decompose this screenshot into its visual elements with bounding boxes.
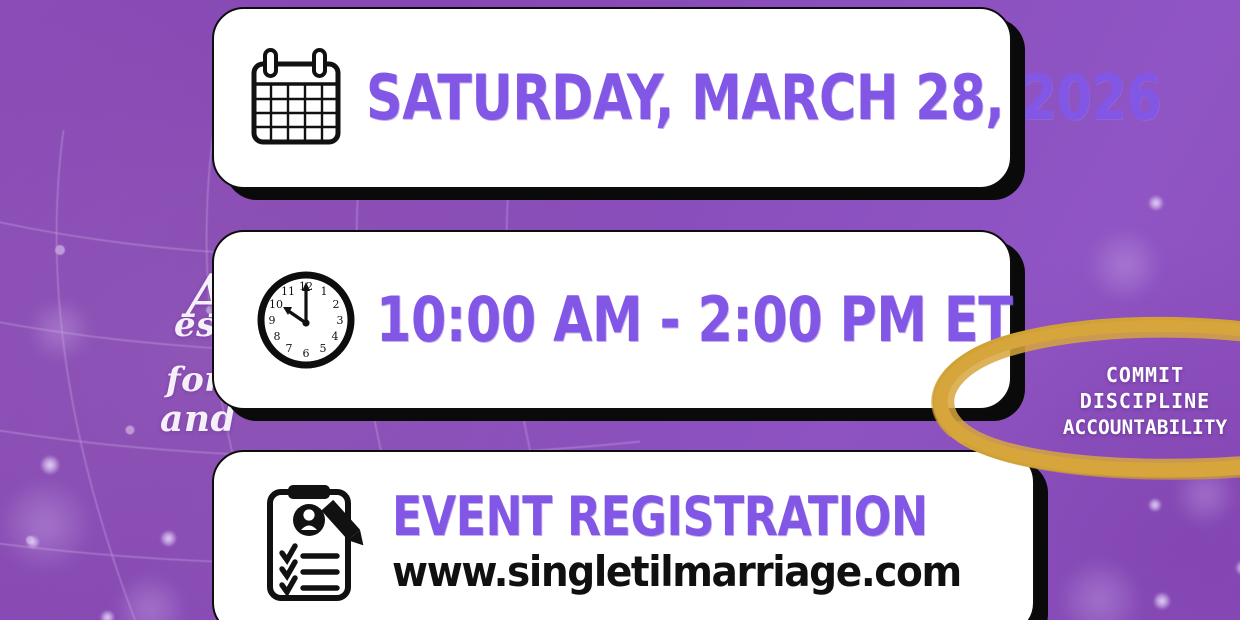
registration-clipboard-icon [262, 482, 374, 604]
event-date-text: SATURDAY, MARCH 28, 2026 [366, 67, 1161, 129]
clock-icon-wrap: 12 1 2 3 4 5 6 7 8 9 10 11 [246, 268, 366, 372]
svg-text:2: 2 [333, 298, 340, 311]
event-poster: A esse for and SATURDAY, MARCH 28, 2026 [0, 0, 1240, 620]
svg-text:3: 3 [337, 314, 344, 327]
registration-url[interactable]: www.singletilmarriage.com [392, 550, 999, 594]
annotation-text-block: COMMIT DISCIPLINE ACCOUNTABILITY [1040, 362, 1240, 441]
time-card-body: 10:00 AM - 2:00 PM ET [366, 289, 1152, 351]
registration-icon-wrap [254, 482, 382, 604]
svg-text:1: 1 [321, 285, 328, 298]
registration-title: EVENT REGISTRATION [392, 490, 928, 544]
svg-text:8: 8 [274, 330, 281, 343]
background-script-fragment-4: and [160, 398, 236, 440]
annotation-line-3: ACCOUNTABILITY [1040, 415, 1240, 441]
event-time-text: 10:00 AM - 2:00 PM ET [376, 289, 1012, 351]
svg-text:9: 9 [269, 314, 276, 327]
registration-card: EVENT REGISTRATION www.singletilmarriage… [212, 450, 1035, 620]
calendar-icon-wrap [236, 48, 356, 148]
svg-text:4: 4 [332, 330, 339, 343]
time-card: 12 1 2 3 4 5 6 7 8 9 10 11 [212, 230, 1012, 410]
svg-text:7: 7 [286, 342, 293, 355]
svg-text:5: 5 [320, 342, 327, 355]
svg-text:11: 11 [281, 285, 295, 298]
svg-text:10: 10 [269, 298, 283, 311]
date-card-body: SATURDAY, MARCH 28, 2026 [356, 67, 1240, 129]
registration-card-body: EVENT REGISTRATION www.singletilmarriage… [382, 490, 1045, 594]
clock-icon: 12 1 2 3 4 5 6 7 8 9 10 11 [254, 268, 358, 372]
annotation-line-2: DISCIPLINE [1040, 388, 1240, 414]
annotation-line-1: COMMIT [1040, 362, 1240, 388]
date-card: SATURDAY, MARCH 28, 2026 [212, 7, 1012, 189]
svg-text:6: 6 [303, 347, 310, 360]
calendar-icon [248, 48, 344, 148]
